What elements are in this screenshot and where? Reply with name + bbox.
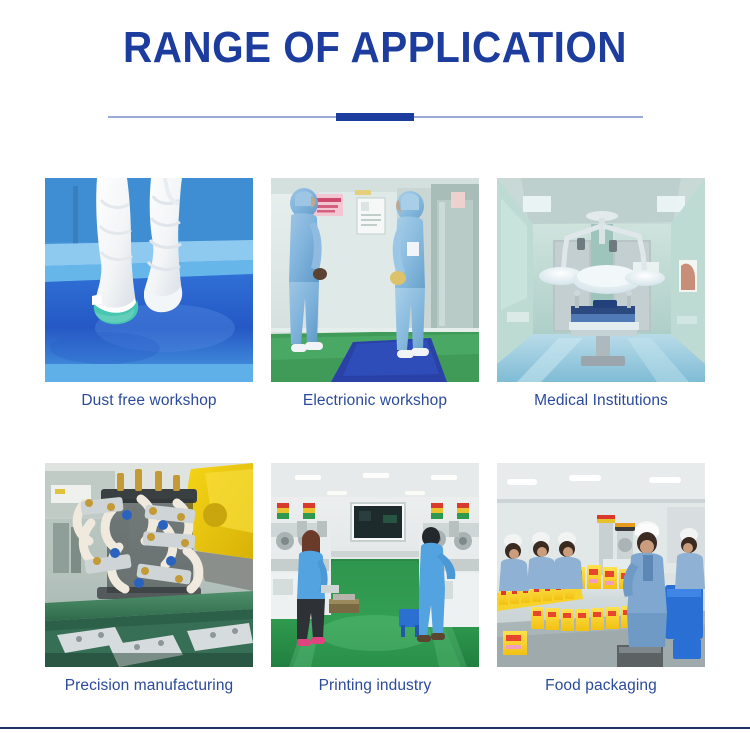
application-card-printing-industry[interactable]: Printing industry [271,463,479,696]
card-caption: Food packaging [497,676,705,696]
application-card-electrionic-workshop[interactable]: Electrionic workshop [271,178,479,411]
application-card-dust-free-workshop[interactable]: Dust free workshop [45,178,253,411]
card-caption: Printing industry [271,676,479,696]
operating-room-photo[interactable] [497,178,705,382]
printing-workshop-photo[interactable] [271,463,479,667]
page-title: RANGE OF APPLICATION [30,26,720,70]
card-caption: Dust free workshop [45,391,253,411]
card-caption: Electrionic workshop [271,391,479,411]
card-caption: Precision manufacturing [45,676,253,696]
application-range-page: RANGE OF APPLICATION [0,0,750,733]
page-header: RANGE OF APPLICATION [0,0,750,124]
application-card-precision-manufacturing[interactable]: Precision manufacturing [45,463,253,696]
application-grid: Dust free workshop [45,178,705,696]
electronic-workshop-photo[interactable] [271,178,479,382]
card-caption: Medical Institutions [497,391,705,411]
application-card-medical-institutions[interactable]: Medical Institutions [497,178,705,411]
footer-divider [0,727,750,729]
application-card-food-packaging[interactable]: Food packaging [497,463,705,696]
food-packaging-photo[interactable] [497,463,705,667]
robot-gripper-photo[interactable] [45,463,253,667]
divider-accent-bar [336,113,414,121]
cleanroom-boots-photo[interactable] [45,178,253,382]
title-divider [108,110,643,124]
